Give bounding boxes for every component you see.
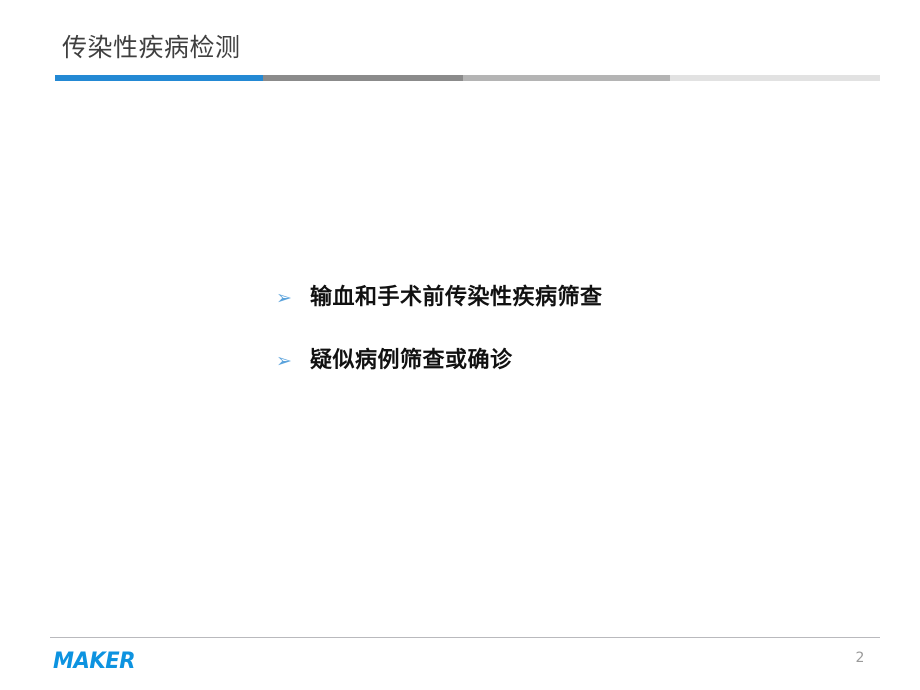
divider-segment-blue	[55, 75, 263, 81]
list-item: ➢ 疑似病例筛查或确诊	[276, 346, 836, 376]
presentation-slide: 传染性疾病检测 ➢ 输血和手术前传染性疾病筛查 ➢ 疑似病例筛查或确诊 MAKE…	[0, 0, 920, 690]
list-item-label: 输血和手术前传染性疾病筛查	[310, 283, 603, 313]
arrow-bullet-icon: ➢	[276, 283, 310, 313]
divider-segment-medium-gray	[463, 75, 670, 81]
title-divider	[55, 75, 880, 81]
divider-segment-dark-gray	[263, 75, 463, 81]
list-item: ➢ 输血和手术前传染性疾病筛查	[276, 283, 836, 313]
arrow-bullet-icon: ➢	[276, 346, 310, 376]
maker-logo: MAKER	[53, 650, 135, 674]
divider-segment-light-gray	[670, 75, 880, 81]
footer-divider	[50, 637, 880, 638]
list-item-label: 疑似病例筛查或确诊	[310, 346, 513, 376]
page-number: 2	[845, 648, 875, 668]
page-title: 传染性疾病检测	[62, 31, 241, 65]
bullet-list: ➢ 输血和手术前传染性疾病筛查 ➢ 疑似病例筛查或确诊	[276, 283, 836, 376]
